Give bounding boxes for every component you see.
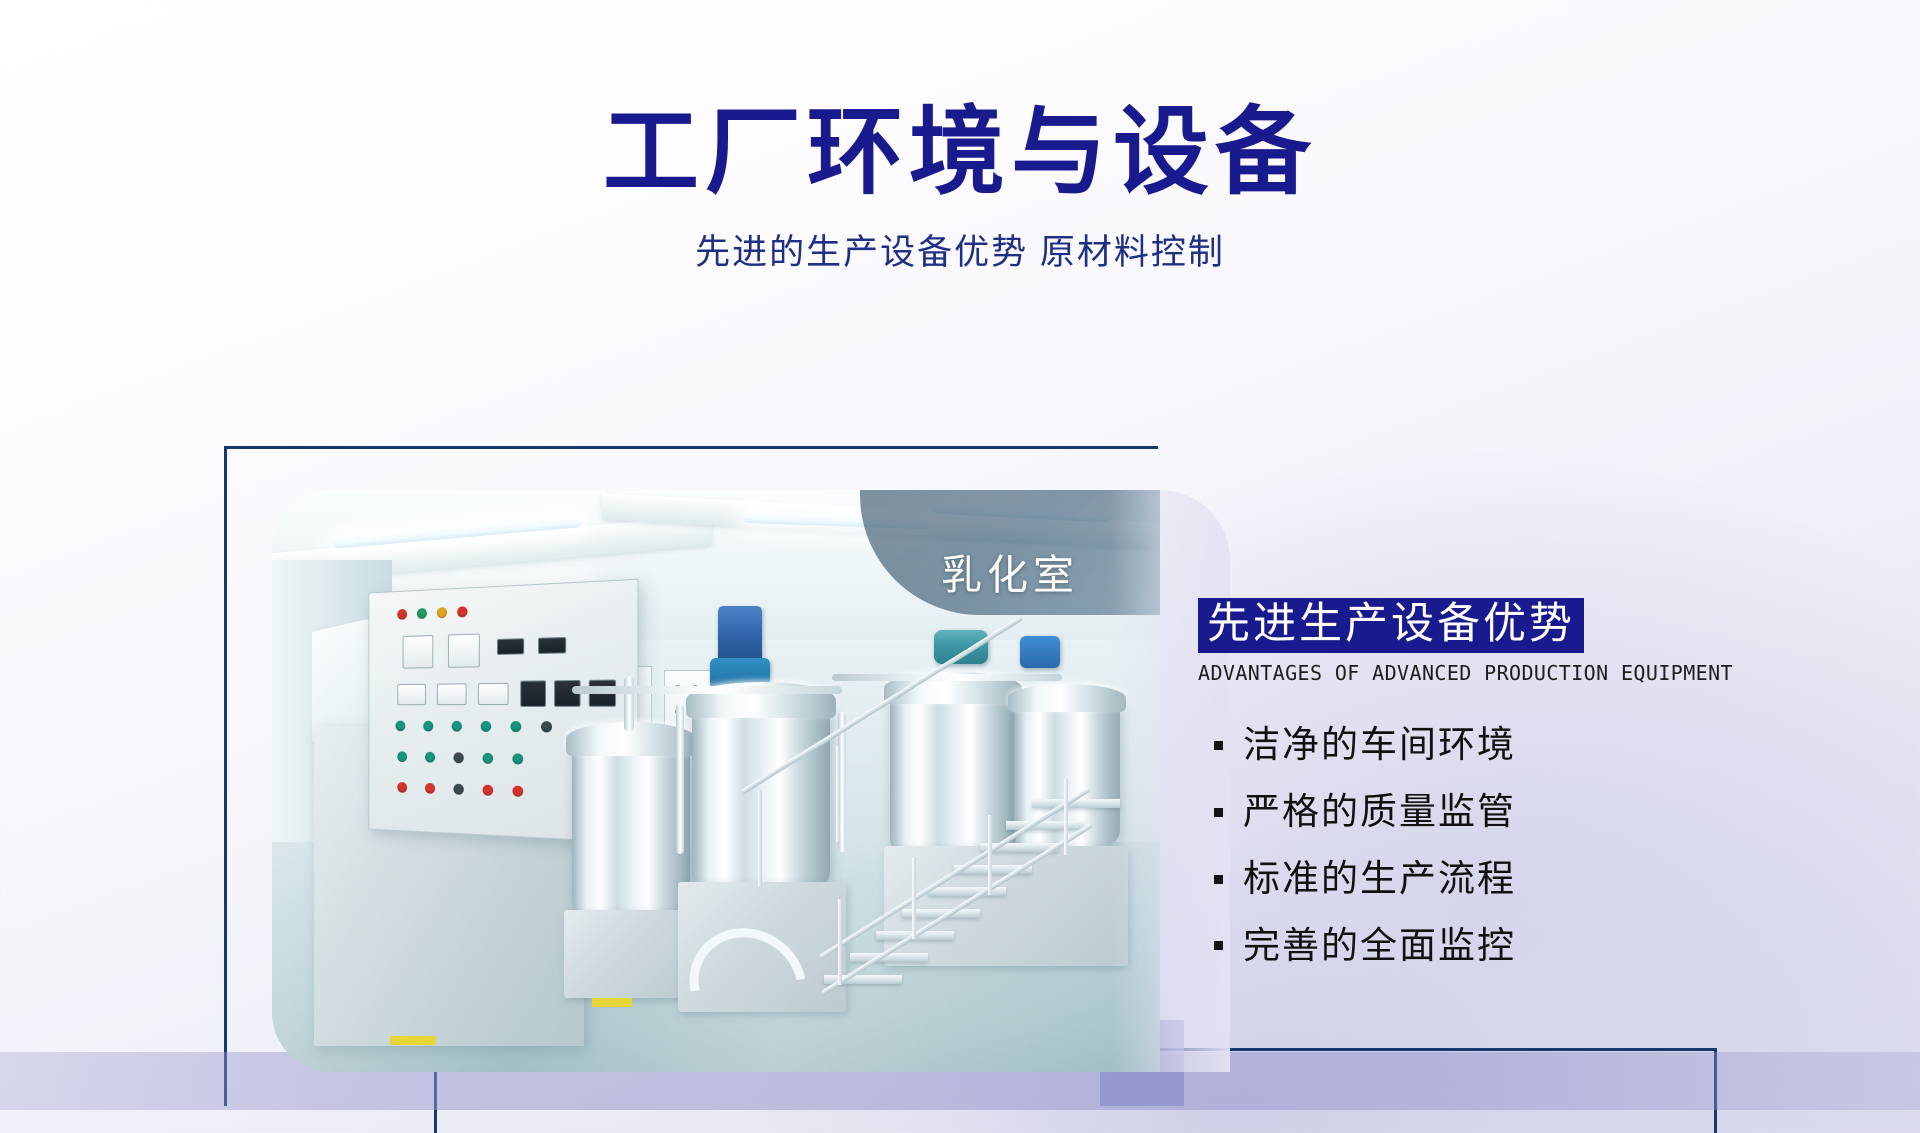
bullet-square-icon	[1214, 875, 1223, 884]
mixing-vessel-1	[572, 736, 690, 916]
bullet-square-icon	[1214, 808, 1223, 817]
bullet-square-icon	[1214, 741, 1223, 750]
page-header: 工厂环境与设备 先进的生产设备优势 原材料控制	[0, 104, 1920, 275]
page-subtitle: 先进的生产设备优势 原材料控制	[0, 224, 1920, 275]
page-title: 工厂环境与设备	[0, 104, 1920, 202]
list-item: 洁净的车间环境	[1198, 725, 1758, 766]
factory-photo: 乳化室	[272, 490, 1160, 1072]
agitator-motor-teal-2	[1020, 636, 1060, 668]
handrail-post-2	[836, 746, 840, 842]
list-item: 标准的生产流程	[1198, 859, 1758, 900]
safety-tag-2	[592, 998, 632, 1007]
list-item-label: 洁净的车间环境	[1243, 725, 1516, 766]
section-subheading: ADVANTAGES OF ADVANCED PRODUCTION EQUIPM…	[1198, 661, 1758, 685]
list-item: 完善的全面监控	[1198, 926, 1758, 967]
advantages-list: 洁净的车间环境 严格的质量监管 标准的生产流程 完善的全面监控	[1198, 725, 1758, 966]
list-item: 严格的质量监管	[1198, 792, 1758, 833]
photo-scene: 乳化室	[272, 490, 1160, 1072]
vessel-base-1	[564, 910, 696, 998]
handrail-post-1	[758, 790, 762, 886]
vessel-shaft-1	[624, 676, 634, 732]
room-label-text: 乳化室	[941, 541, 1079, 601]
accent-block-violet-vertical	[1158, 1020, 1184, 1106]
overhead-pipe-1	[572, 686, 842, 694]
bullet-square-icon	[1214, 941, 1223, 950]
list-item-label: 标准的生产流程	[1243, 859, 1516, 900]
agitator-motor-blue	[718, 606, 762, 666]
safety-tag-1	[390, 1036, 436, 1045]
vessel-lid-4	[1008, 684, 1126, 712]
list-item-label: 严格的质量监管	[1243, 792, 1516, 833]
overhead-pipe-2	[832, 674, 1062, 681]
agitator-motor-teal-1	[934, 630, 988, 664]
advantages-section: 先进生产设备优势 ADVANTAGES OF ADVANCED PRODUCTI…	[1198, 598, 1758, 992]
section-heading: 先进生产设备优势	[1198, 598, 1584, 653]
list-item-label: 完善的全面监控	[1243, 926, 1516, 967]
vertical-pipe-1	[676, 704, 684, 854]
staircase	[820, 779, 1130, 1014]
